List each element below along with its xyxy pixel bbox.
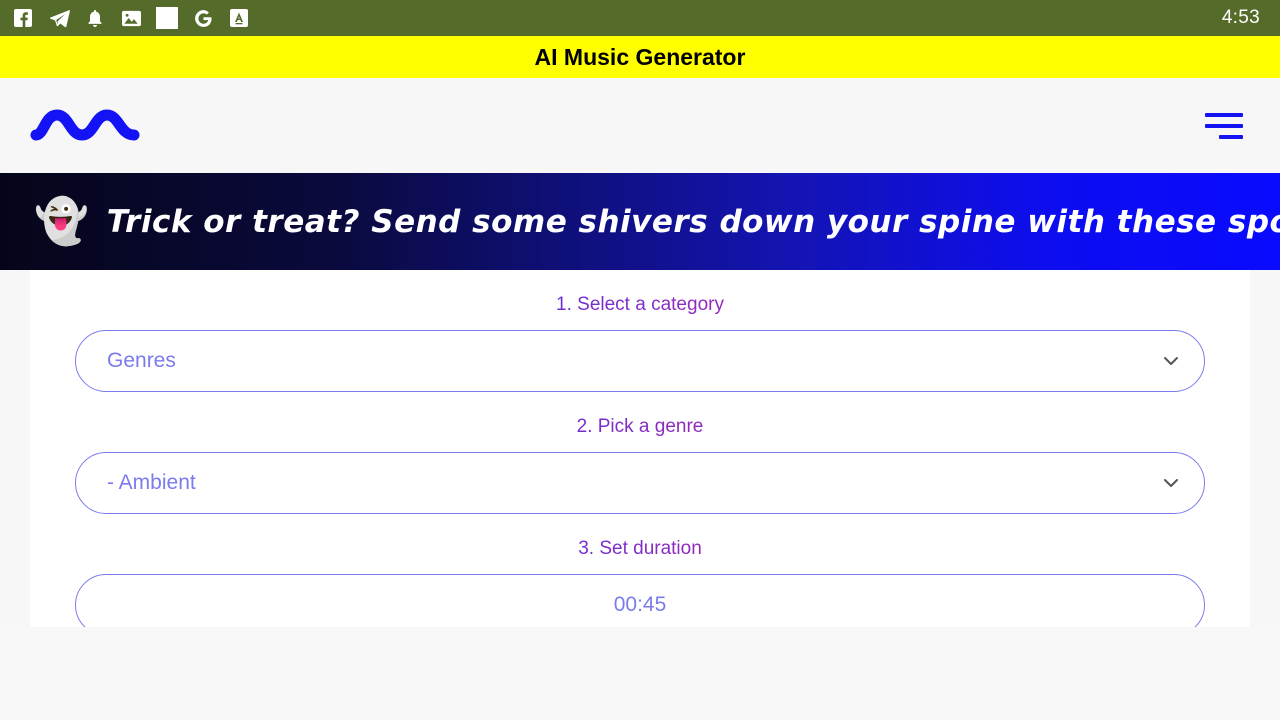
hamburger-menu[interactable] (1201, 109, 1247, 143)
hamburger-line-2 (1205, 124, 1243, 128)
duration-input-value: 00:45 (76, 593, 1204, 617)
ghost-cat-icon: 👻 (34, 200, 89, 244)
status-clock: 4:53 (1222, 7, 1268, 29)
page-body: 1. Select a category Genres 2. Pick a ge… (0, 270, 1280, 720)
site-header (0, 78, 1280, 173)
wave-logo[interactable] (30, 103, 140, 149)
page-title: AI Music Generator (535, 44, 746, 71)
google-icon (192, 7, 214, 29)
app-title-bar: AI Music Generator (0, 36, 1280, 78)
step-label-duration: 3. Set duration (30, 538, 1250, 560)
step-label-genre: 2. Pick a genre (30, 416, 1250, 438)
image-icon (120, 7, 142, 29)
category-select-value: Genres (76, 349, 1204, 373)
app-a-icon (228, 7, 250, 29)
hamburger-line-1 (1205, 113, 1243, 117)
category-select[interactable]: Genres (75, 330, 1205, 392)
genre-select[interactable]: - Ambient (75, 452, 1205, 514)
genre-select-value: - Ambient (76, 471, 1204, 495)
android-status-bar: 4:53 (0, 0, 1280, 36)
duration-input[interactable]: 00:45 (75, 574, 1205, 627)
status-icon-tray (12, 7, 1222, 29)
bell-icon (84, 7, 106, 29)
telegram-icon (48, 7, 70, 29)
viewport-background (0, 627, 1280, 720)
promo-banner-text: Trick or treat? Send some shivers down y… (89, 204, 1280, 240)
promo-banner[interactable]: 👻 Trick or treat? Send some shivers down… (0, 173, 1280, 270)
step-label-category: 1. Select a category (30, 294, 1250, 316)
blank-square-icon (156, 7, 178, 29)
facebook-icon (12, 7, 34, 29)
generator-form-card: 1. Select a category Genres 2. Pick a ge… (30, 270, 1250, 627)
hamburger-line-3 (1219, 135, 1243, 139)
